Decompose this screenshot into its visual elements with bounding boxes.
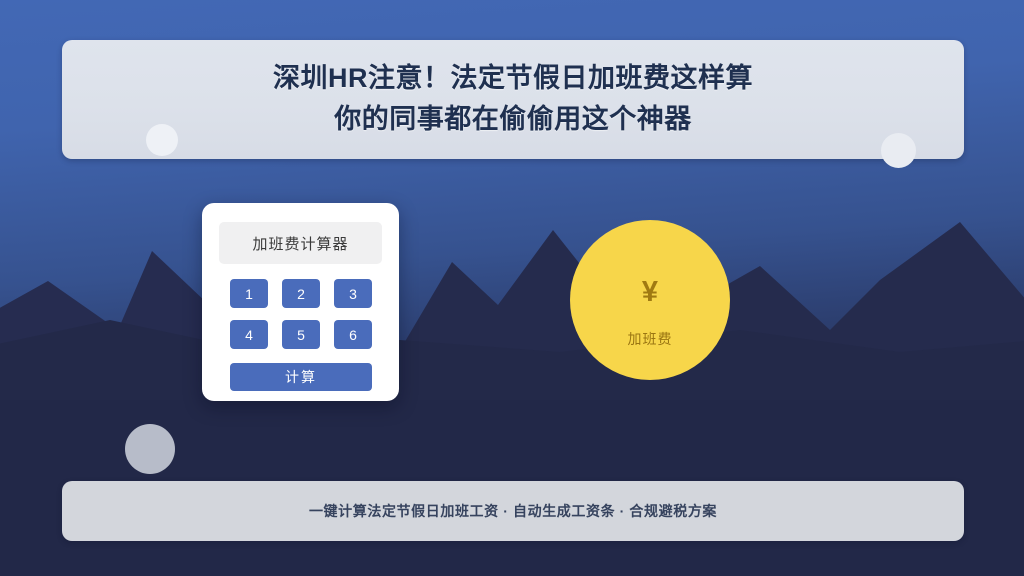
footer-banner: 一键计算法定节假日加班工资 · 自动生成工资条 · 合规避税方案 <box>62 481 964 541</box>
overtime-pay-coin: ¥ 加班费 <box>570 220 730 380</box>
yen-symbol-icon: ¥ <box>570 278 730 307</box>
keypad-key-3[interactable]: 3 <box>334 279 372 308</box>
slide-canvas: 深圳HR注意！法定节假日加班费这样算 你的同事都在偷偷用这个神器 加班费计算器 … <box>0 0 1024 576</box>
footer-tagline: 一键计算法定节假日加班工资 · 自动生成工资条 · 合规避税方案 <box>62 501 964 521</box>
page-title-line-1: 深圳HR注意！法定节假日加班费这样算 <box>62 58 964 100</box>
coin-label: 加班费 <box>570 332 730 346</box>
keypad-key-2[interactable]: 2 <box>282 279 320 308</box>
keypad-key-1[interactable]: 1 <box>230 279 268 308</box>
calculate-button[interactable]: 计算 <box>230 363 372 391</box>
calculator-keypad[interactable]: 1 2 3 4 5 6 <box>230 279 372 349</box>
decorative-circle-icon <box>881 133 916 168</box>
calculator-title-label: 加班费计算器 <box>252 233 348 254</box>
page-title: 深圳HR注意！法定节假日加班费这样算 你的同事都在偷偷用这个神器 <box>62 58 964 142</box>
header-banner: 深圳HR注意！法定节假日加班费这样算 你的同事都在偷偷用这个神器 <box>62 40 964 159</box>
keypad-key-4[interactable]: 4 <box>230 320 268 349</box>
calculator-titlebar: 加班费计算器 <box>219 222 382 264</box>
page-title-line-2: 你的同事都在偷偷用这个神器 <box>62 100 964 142</box>
keypad-key-6[interactable]: 6 <box>334 320 372 349</box>
keypad-key-5[interactable]: 5 <box>282 320 320 349</box>
overtime-calculator-panel[interactable]: 加班费计算器 1 2 3 4 5 6 计算 <box>202 203 399 401</box>
decorative-circle-icon <box>125 424 175 474</box>
